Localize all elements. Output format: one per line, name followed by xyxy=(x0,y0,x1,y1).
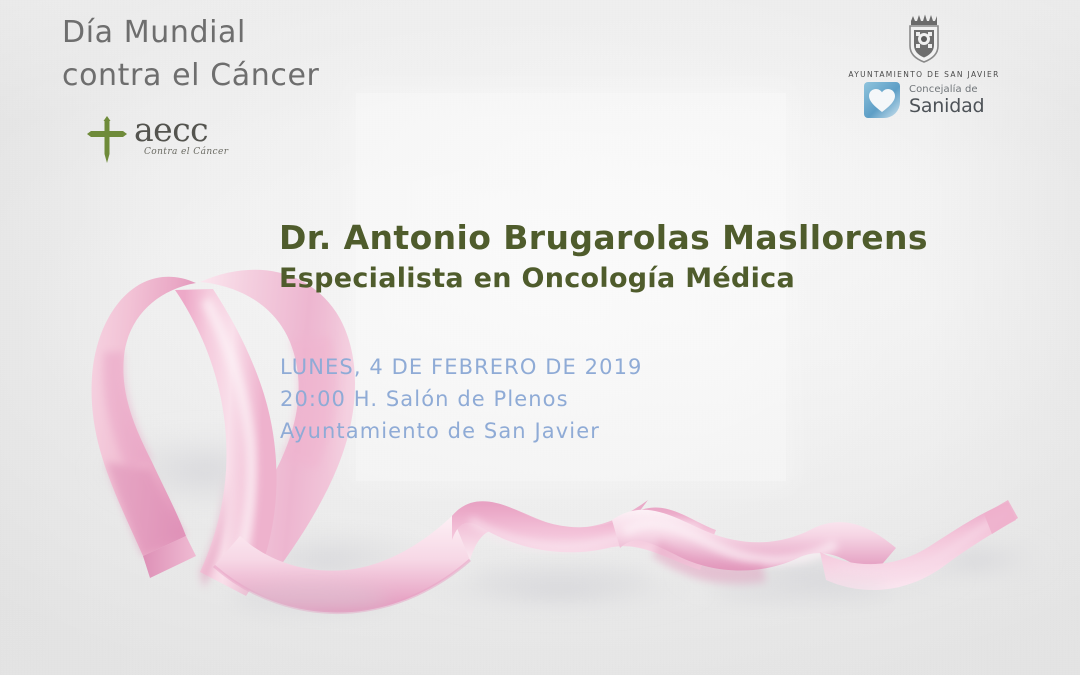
sanidad-logo: Concejalía de Sanidad xyxy=(862,80,984,120)
speaker-role: Especialista en Oncología Médica xyxy=(279,263,795,294)
sanidad-line-2: Sanidad xyxy=(909,97,984,116)
green-cross-sword-icon xyxy=(84,116,130,166)
townhall-caption: AYUNTAMIENTO DE SAN JAVIER xyxy=(840,70,1008,79)
aecc-logo: aecc Contra el Cáncer xyxy=(84,116,234,166)
speaker-name: Dr. Antonio Brugarolas Masllorens xyxy=(279,218,928,257)
aecc-wordmark: aecc xyxy=(134,113,208,146)
townhall-logo: AYUNTAMIENTO DE SAN JAVIER xyxy=(840,14,1008,79)
page-title: Día Mundial contra el Cáncer xyxy=(62,12,482,97)
sanidad-text: Concejalía de Sanidad xyxy=(909,85,984,116)
event-details: LUNES, 4 DE FEBRERO DE 2019 20:00 H. Sal… xyxy=(280,352,643,448)
san-javier-crest-icon xyxy=(902,14,946,64)
poster-canvas: Día Mundial contra el Cáncer aecc Contra… xyxy=(0,0,1080,675)
heart-in-square-icon xyxy=(862,80,902,120)
aecc-tagline: Contra el Cáncer xyxy=(144,147,228,157)
sanidad-line-1: Concejalía de xyxy=(909,85,984,95)
